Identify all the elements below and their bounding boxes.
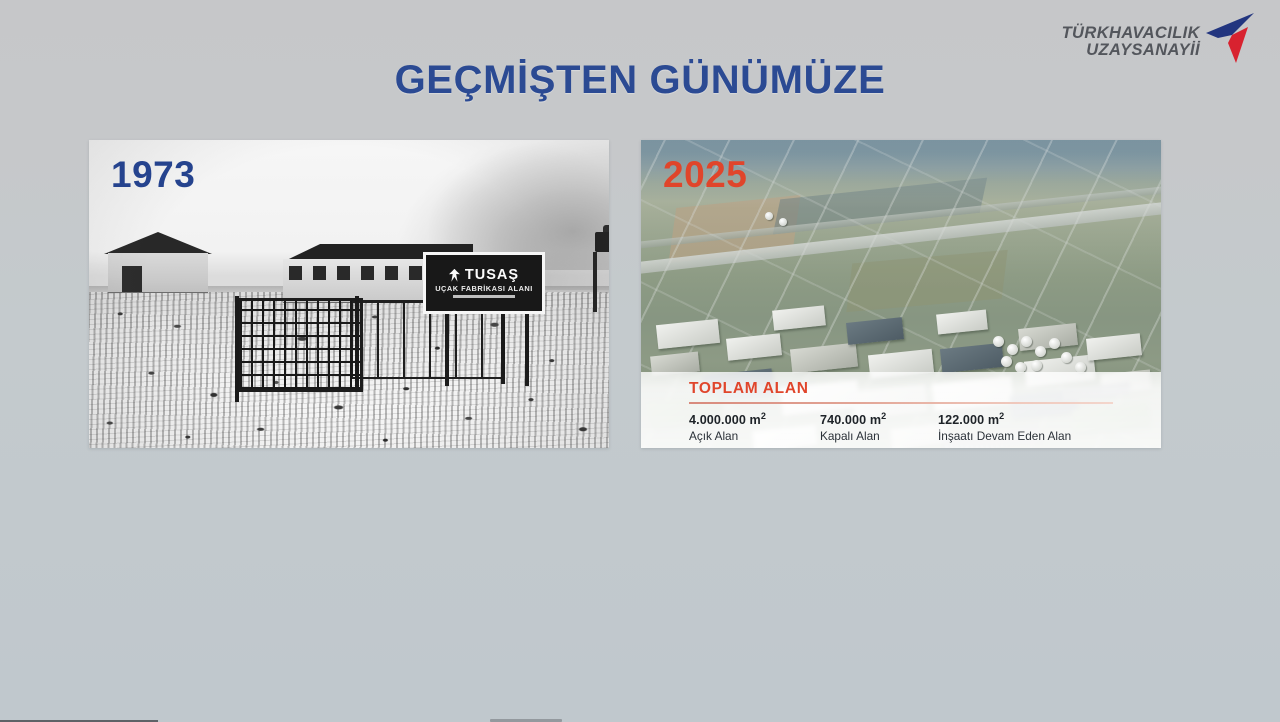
tusas-sign-bar <box>453 295 515 298</box>
stat-value: 4.000.000 m2 <box>689 411 820 427</box>
brand-logo-text: TÜRKHAVACILIK UZAYSANAYİİ <box>1062 25 1200 59</box>
stat-value: 740.000 m2 <box>820 411 938 427</box>
stats-divider <box>689 402 1113 404</box>
total-area-stats-panel: TOPLAM ALAN 4.000.000 m2 Açık Alan 740.0… <box>641 372 1161 448</box>
stat-kapali-alan: 740.000 m2 Kapalı Alan <box>820 411 938 443</box>
tusas-sign-brand: TUSAŞ <box>465 268 519 283</box>
brand-logo-line1: TÜRKHAVACILIK <box>1062 25 1200 42</box>
photo-1973-gate <box>237 298 363 392</box>
photo-1973-water-tower <box>587 232 609 320</box>
brand-logo-line2: UZAYSANAYİİ <box>1086 42 1200 59</box>
stat-acik-alan: 4.000.000 m2 Açık Alan <box>689 411 820 443</box>
stat-value: 122.000 m2 <box>938 411 1071 427</box>
panel-2025: 2025 TOPLAM ALAN 4.000.000 m2 Açık Alan … <box>641 140 1161 448</box>
page-title: GEÇMİŞTEN GÜNÜMÜZE <box>0 58 1280 103</box>
tusas-bird-icon <box>449 269 460 282</box>
stats-row: 4.000.000 m2 Açık Alan 740.000 m2 Kapalı… <box>689 411 1113 443</box>
slide-root: TÜRKHAVACILIK UZAYSANAYİİ GEÇMİŞTEN GÜNÜ… <box>0 0 1280 722</box>
photo-1973-sign-legs <box>437 314 533 386</box>
thy-aerospace-arrow-icon <box>1202 11 1256 65</box>
panel-1973: TUSAŞ UÇAK FABRİKASI ALANI 1973 <box>89 140 609 448</box>
year-label-1973: 1973 <box>111 154 195 196</box>
photo-1973-tusas-sign: TUSAŞ UÇAK FABRİKASI ALANI <box>423 252 545 314</box>
stat-insaati-devam-eden-alan: 122.000 m2 İnşaatı Devam Eden Alan <box>938 411 1071 443</box>
year-label-2025: 2025 <box>663 154 747 196</box>
stat-label: İnşaatı Devam Eden Alan <box>938 429 1071 443</box>
photo-1973-hangar <box>104 232 212 292</box>
stats-title: TOPLAM ALAN <box>689 380 1113 398</box>
stat-label: Kapalı Alan <box>820 429 938 443</box>
stat-label: Açık Alan <box>689 429 820 443</box>
tusas-sign-subtitle: UÇAK FABRİKASI ALANI <box>435 285 533 292</box>
